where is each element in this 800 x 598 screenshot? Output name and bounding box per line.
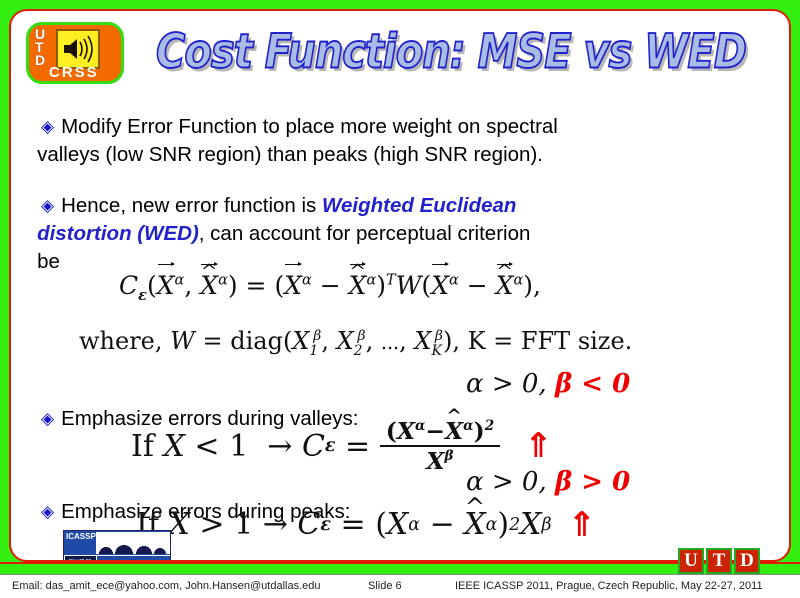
cond1-alpha: α > 0, bbox=[466, 369, 547, 399]
valley-c-sub: ε bbox=[325, 436, 336, 456]
valley-numerator: (Xα−^Xα)2 bbox=[380, 417, 500, 445]
where-w: W bbox=[170, 327, 195, 355]
crss-speaker-icon bbox=[56, 29, 100, 69]
diamond-bullet-icon: ◈ bbox=[41, 503, 54, 520]
valley-arrow: → bbox=[267, 429, 292, 464]
bullet-2-tail: be bbox=[37, 248, 60, 276]
crss-logo: U T D CRSS bbox=[26, 22, 124, 84]
peak-arrow: → bbox=[263, 507, 288, 542]
valley-if: If bbox=[131, 429, 154, 464]
diamond-bullet-icon: ◈ bbox=[41, 410, 54, 427]
crss-label: CRSS bbox=[49, 64, 99, 81]
bullet-2-pre: Hence, new error function is bbox=[61, 194, 322, 217]
cond2-beta: β > 0 bbox=[555, 467, 630, 497]
diamond-bullet-icon: ◈ bbox=[41, 197, 54, 214]
bullet-2-emphasis-1: Weighted Euclidean bbox=[322, 194, 516, 217]
bullet-2-emphasis-2: distortion (WED) bbox=[37, 222, 199, 245]
diamond-bullet-icon: ◈ bbox=[41, 118, 54, 135]
valley-x: X bbox=[164, 429, 185, 464]
bullet-1-text: Modify Error Function to place more weig… bbox=[61, 113, 558, 169]
eq-vec-x-1: X bbox=[157, 271, 175, 300]
valley-c: C bbox=[302, 429, 325, 464]
bullet-2-line-2: distortion (WED), can account for percep… bbox=[37, 220, 530, 248]
icassp-logo: ICASSP May 22-27, 2011 Prague Czech Repu… bbox=[63, 530, 171, 562]
equation-cost-function: Cε(Xα, ^Xα) = (Xα − ^Xα)TW(Xα − ^Xα), bbox=[119, 271, 541, 304]
where-diag: diag bbox=[230, 327, 283, 355]
utd-logo: U T D bbox=[678, 548, 760, 574]
peak-c: C bbox=[297, 507, 320, 542]
condition-alpha-beta-1: α > 0, β < 0 bbox=[466, 369, 630, 399]
valley-relation: < 1 bbox=[194, 429, 248, 464]
utd-logo-letter-d: D bbox=[734, 548, 760, 574]
valley-equals: = bbox=[345, 429, 370, 464]
peak-equals: = bbox=[341, 507, 366, 542]
icassp-logo-top: ICASSP bbox=[64, 531, 171, 555]
eq-transpose: T bbox=[386, 273, 396, 289]
eq-vec-xhat-1: ^X bbox=[200, 271, 218, 300]
footer-conference: IEEE ICASSP 2011, Prague, Czech Republic… bbox=[455, 580, 763, 592]
peak-relation: > 1 bbox=[199, 507, 253, 542]
crss-letter-d: D bbox=[35, 54, 45, 67]
icassp-skyline bbox=[96, 532, 170, 554]
where-fft-size: K = FFT size. bbox=[468, 327, 633, 355]
equation-where-line: where, W = diag(X1β, X2β, ..., XKβ), K =… bbox=[79, 327, 632, 359]
condition-alpha-beta-2: α > 0, β > 0 bbox=[466, 467, 630, 497]
icassp-acronym: ICASSP bbox=[66, 532, 96, 541]
bullet-1-line-2: valleys (low SNR region) than peaks (hig… bbox=[37, 141, 543, 169]
eq-vec-x-3: X bbox=[431, 271, 449, 300]
page-title: Cost Function: MSE vs WED bbox=[131, 25, 771, 79]
slide-content-panel: U T D CRSS Cost Function: MSE vs WED ◈ M… bbox=[9, 9, 791, 562]
speaker-waves-icon bbox=[58, 31, 98, 67]
eq-vec-xhat-3: ^X bbox=[496, 271, 514, 300]
slide-canvas: U T D CRSS Cost Function: MSE vs WED ◈ M… bbox=[0, 0, 800, 598]
where-equals: = bbox=[202, 327, 222, 355]
equation-peak: If X > 1 → Cε = (Xα − ^Xα)2Xβ ⇑ bbox=[136, 507, 596, 542]
icassp-skyline-shape bbox=[96, 540, 170, 554]
peak-x: X bbox=[169, 507, 190, 542]
peak-up-arrow-icon: ⇑ bbox=[568, 508, 597, 542]
bullet-item-1: ◈ Modify Error Function to place more we… bbox=[41, 113, 771, 169]
cond1-beta: β < 0 bbox=[555, 369, 630, 399]
crss-utd-letters: U T D bbox=[35, 28, 45, 67]
eq-c-symbol: C bbox=[119, 271, 138, 300]
footer-email: Email: das_amit_ece@yahoo.com, John.Hans… bbox=[12, 580, 321, 592]
bullet-1-line-1: Modify Error Function to place more weig… bbox=[61, 115, 558, 138]
footer-slide-number: Slide 6 bbox=[368, 580, 402, 592]
utd-logo-letter-t: T bbox=[706, 548, 732, 574]
eq-vec-x-2: X bbox=[284, 271, 302, 300]
utd-logo-letter-u: U bbox=[678, 548, 704, 574]
bullet-2-post: , can account for perceptual criterion bbox=[199, 222, 531, 245]
eq-weight-w: W bbox=[396, 271, 422, 300]
eq-trailing-comma: , bbox=[533, 271, 541, 300]
eq-c-subscript: ε bbox=[138, 287, 147, 304]
bullet-item-2: ◈ Hence, new error function is Weighted … bbox=[41, 192, 771, 276]
peak-c-sub: ε bbox=[320, 515, 331, 535]
valley-up-arrow-icon: ⇑ bbox=[524, 429, 553, 463]
where-word: where, bbox=[79, 327, 163, 355]
eq-vec-xhat-2: ^X bbox=[349, 271, 367, 300]
